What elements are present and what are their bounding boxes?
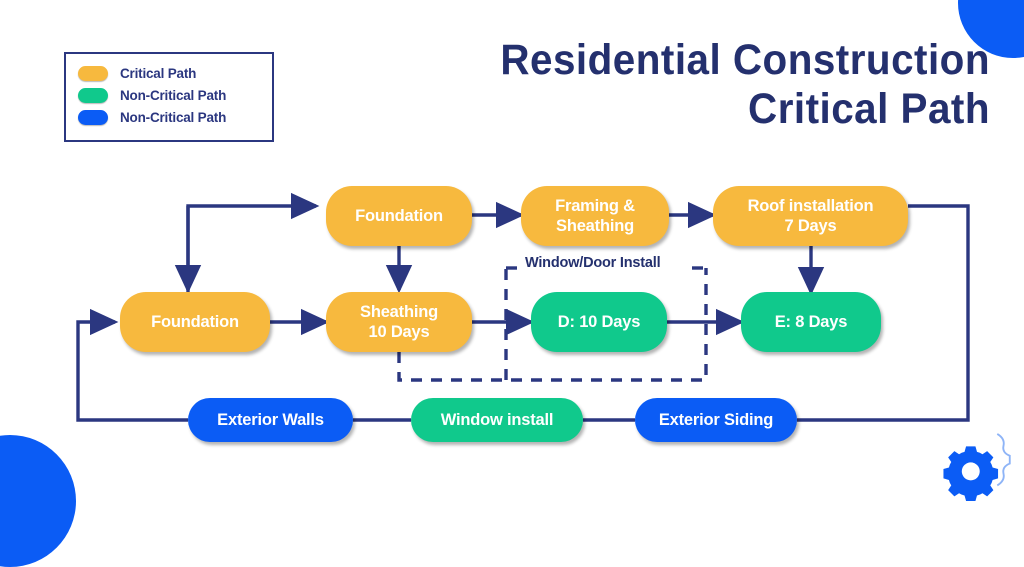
node-label-line-1: E: 8 Days xyxy=(775,312,848,332)
node-exterior-siding[interactable]: Exterior Siding xyxy=(635,398,797,442)
group-label-window-door-install: Window/Door Install xyxy=(519,255,666,271)
node-task-d[interactable]: D: 10 Days xyxy=(531,292,667,352)
node-exterior-walls[interactable]: Exterior Walls xyxy=(188,398,353,442)
node-label-line-1: D: 10 Days xyxy=(558,312,640,332)
node-foundation-top[interactable]: Foundation xyxy=(326,186,472,246)
node-foundation-left[interactable]: Foundation xyxy=(120,292,270,352)
node-label-line-1: Framing & xyxy=(555,196,635,216)
node-label-line-2: Sheathing xyxy=(555,216,635,236)
node-framing-sheathing[interactable]: Framing & Sheathing xyxy=(521,186,669,246)
node-label-line-1: Exterior Siding xyxy=(659,410,773,430)
node-roof-installation[interactable]: Roof installation 7 Days xyxy=(713,186,908,246)
node-label-line-1: Sheathing xyxy=(360,302,438,322)
node-label-line-1: Roof installation xyxy=(748,196,874,216)
node-label-line-2: 10 Days xyxy=(360,322,438,342)
node-task-e[interactable]: E: 8 Days xyxy=(741,292,881,352)
node-label-line-1: Exterior Walls xyxy=(217,410,324,430)
node-label-line-1: Window install xyxy=(441,410,554,430)
diagram-canvas: Critical Path Non-Critical Path Non-Crit… xyxy=(0,0,1024,509)
node-label-line-2: 7 Days xyxy=(748,216,874,236)
node-label-line-1: Foundation xyxy=(355,206,443,226)
node-window-install[interactable]: Window install xyxy=(411,398,583,442)
node-label-line-1: Foundation xyxy=(151,312,239,332)
node-sheathing[interactable]: Sheathing 10 Days xyxy=(326,292,472,352)
